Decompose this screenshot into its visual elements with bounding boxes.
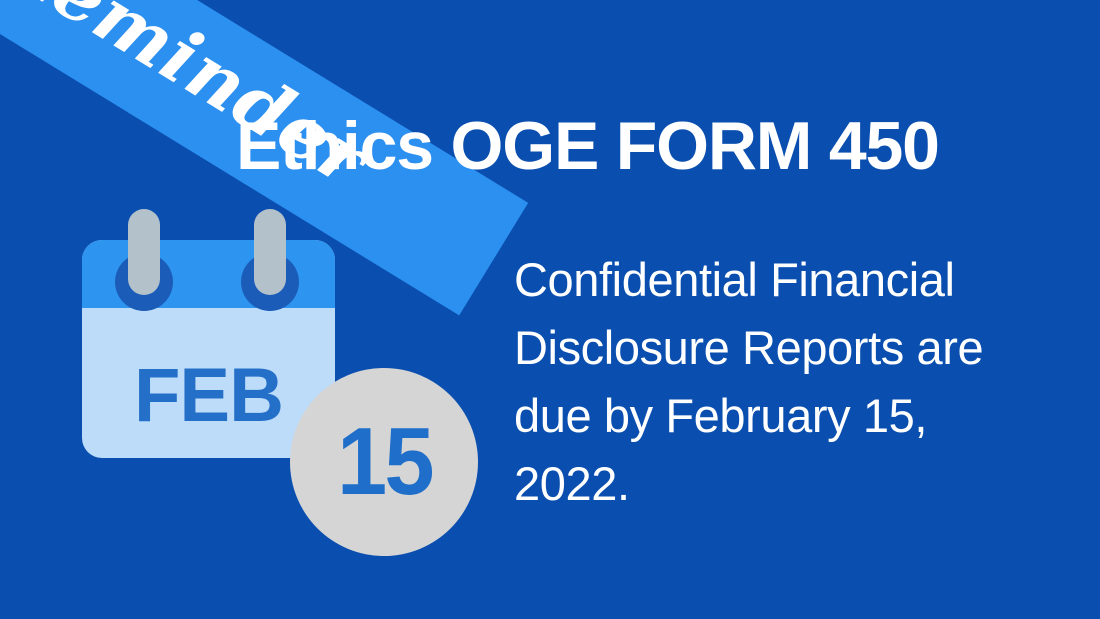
page-title: Ethics OGE FORM 450	[236, 112, 939, 180]
calendar-icon: FEB 15	[82, 205, 482, 560]
body-text: Confidential Financial Disclosure Report…	[514, 246, 1054, 518]
calendar-month-label: FEB	[82, 358, 335, 434]
calendar-day-label: 15	[337, 414, 432, 510]
calendar-day-badge: 15	[290, 368, 478, 556]
reminder-poster: Reminder Ethics OGE FORM 450 Confidentia…	[0, 0, 1100, 619]
calendar-clip-left-icon	[128, 209, 160, 295]
calendar-clip-right-icon	[254, 209, 286, 295]
